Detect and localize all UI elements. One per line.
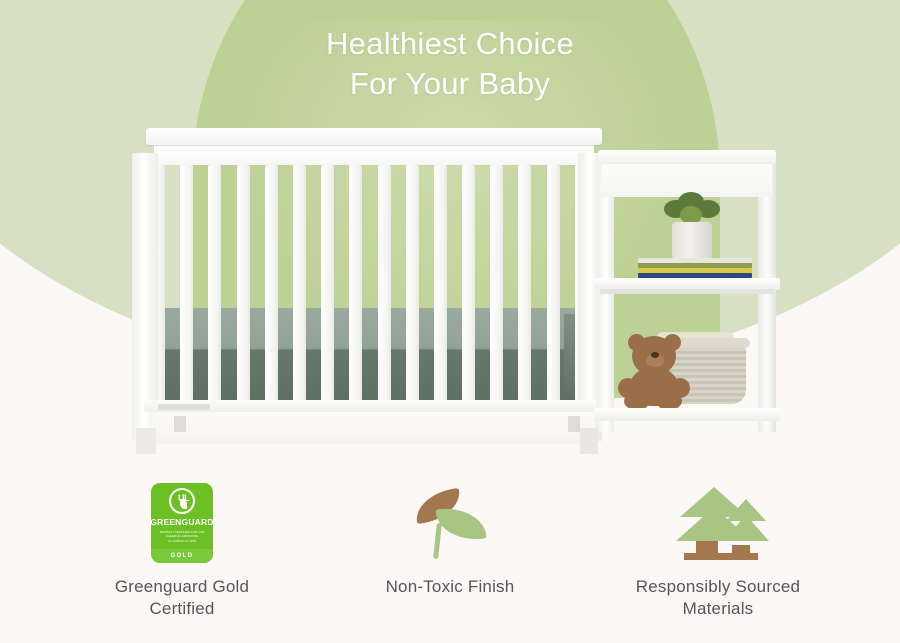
crib-slat xyxy=(378,165,391,405)
greenguard-gold-bar: GOLD xyxy=(151,549,213,563)
two-leaves-icon xyxy=(411,480,489,566)
bear-nose xyxy=(651,352,659,358)
changer-upper-shelf-edge xyxy=(600,289,774,294)
leaf-stem xyxy=(433,523,442,559)
product-photo xyxy=(0,0,900,470)
changer-lower-shelf xyxy=(594,408,780,421)
tree-large-bottom xyxy=(676,507,752,541)
teddy-bear xyxy=(618,336,696,408)
crib-slat xyxy=(180,165,193,405)
greenguard-level-label: GOLD xyxy=(171,553,194,559)
crib-slat xyxy=(265,165,278,405)
crib-slat xyxy=(406,165,419,405)
greenguard-fine-print: PRODUCT CERTIFIED FOR LOW CHEMICAL EMISS… xyxy=(158,530,206,543)
pine-trees-icon xyxy=(670,480,766,566)
crib-lower-panel xyxy=(152,412,592,444)
ul-mark-icon: UL xyxy=(169,488,195,514)
trust-badges: UL GREENGUARD PRODUCT CERTIFIED FOR LOW … xyxy=(0,480,900,630)
badge-caption: Responsibly Sourced Materials xyxy=(623,576,813,620)
crib-bracket xyxy=(158,404,210,410)
crib-rail-band xyxy=(136,153,602,165)
plant-pot xyxy=(672,222,712,262)
crib-slat xyxy=(321,165,334,405)
log-base-right xyxy=(724,553,758,560)
crib-slat xyxy=(490,165,503,405)
crib-hardware-left xyxy=(174,416,186,432)
crib-slats xyxy=(152,165,588,405)
badge-non-toxic: Non-Toxic Finish xyxy=(355,480,545,598)
crib-base-rail xyxy=(144,400,596,412)
crib xyxy=(132,128,602,443)
crib-slat xyxy=(462,165,475,405)
leaf-green-icon xyxy=(435,505,486,544)
crib-slat xyxy=(293,165,306,405)
crib-hardware-right xyxy=(568,416,580,432)
changer-post-left xyxy=(598,162,614,432)
changing-table xyxy=(598,150,776,440)
greenguard-gold-badge-icon: UL GREENGUARD PRODUCT CERTIFIED FOR LOW … xyxy=(151,480,213,566)
book-stack xyxy=(638,258,752,280)
crib-foot-right xyxy=(580,428,598,454)
badge-greenguard: UL GREENGUARD PRODUCT CERTIFIED FOR LOW … xyxy=(87,480,277,620)
trees-group xyxy=(670,481,766,565)
crib-post-left xyxy=(132,153,158,441)
badge-caption: Greenguard Gold Certified xyxy=(87,576,277,620)
crib-slat xyxy=(208,165,221,405)
badge-sourcing: Responsibly Sourced Materials xyxy=(623,480,813,620)
crib-foot-left xyxy=(136,428,156,454)
changer-top-rail xyxy=(598,150,776,164)
badge-caption: Non-Toxic Finish xyxy=(386,576,515,598)
leaves-group xyxy=(411,483,489,563)
crib-slat xyxy=(349,165,362,405)
leaf-icon xyxy=(180,499,187,509)
greenguard-badge-body: UL GREENGUARD PRODUCT CERTIFIED FOR LOW … xyxy=(151,483,213,563)
crib-slat xyxy=(237,165,250,405)
crib-top-rail xyxy=(146,128,602,145)
marketing-banner: Healthiest Choice For Your Baby xyxy=(0,0,900,643)
changer-post-right xyxy=(758,162,776,432)
crib-top-rail-under xyxy=(154,144,594,153)
crib-slat xyxy=(518,165,531,405)
crib-slat xyxy=(434,165,447,405)
crib-slat xyxy=(547,165,560,405)
greenguard-wordmark: GREENGUARD xyxy=(150,517,213,527)
